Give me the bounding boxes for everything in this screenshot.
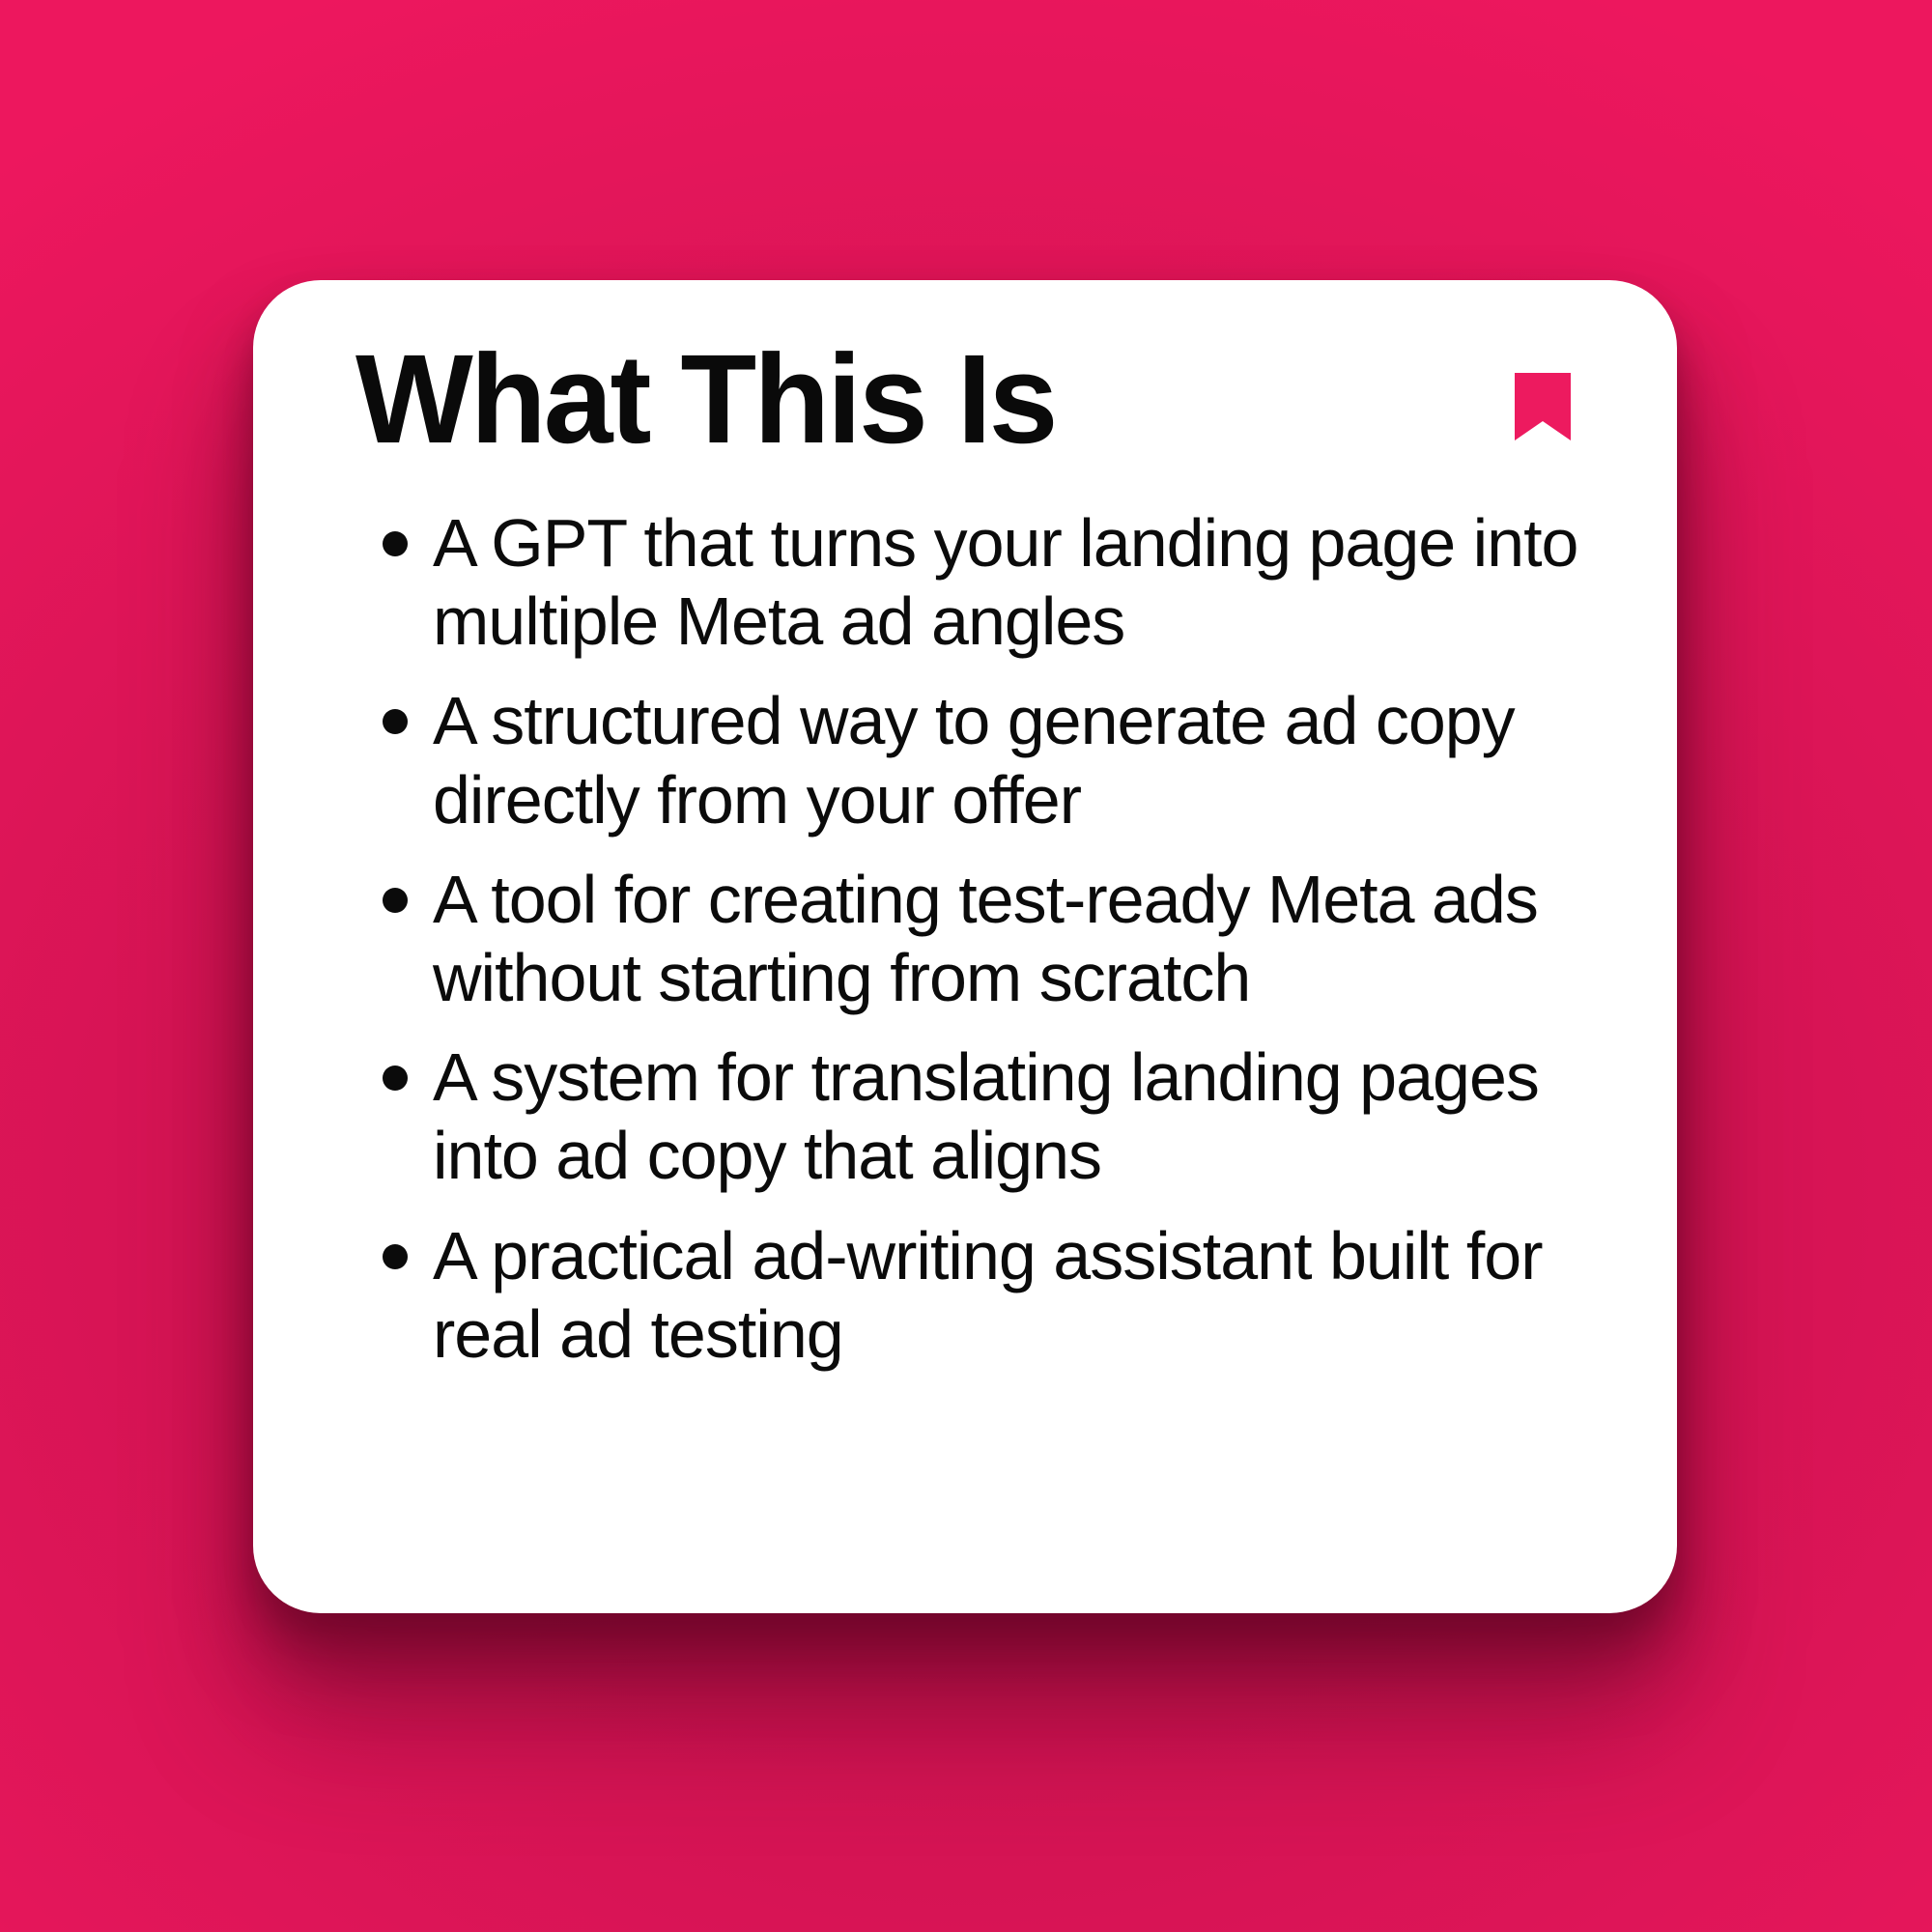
bullet-dot-icon xyxy=(383,709,408,734)
list-item: A tool for creating test-ready Meta ads … xyxy=(375,861,1584,1017)
bullet-dot-icon xyxy=(383,1065,408,1091)
feature-bullet-list: A GPT that turns your landing page into … xyxy=(375,504,1584,1374)
list-item-label: A practical ad-writing assistant built f… xyxy=(433,1217,1584,1374)
slide-canvas: What This Is A GPT that turns your landi… xyxy=(0,0,1932,1932)
bullet-dot-icon xyxy=(383,1244,408,1269)
list-item: A structured way to generate ad copy dir… xyxy=(375,682,1584,838)
list-item-label: A GPT that turns your landing page into … xyxy=(433,504,1584,661)
list-item: A GPT that turns your landing page into … xyxy=(375,504,1584,661)
list-item-label: A tool for creating test-ready Meta ads … xyxy=(433,861,1584,1017)
page-title: What This Is xyxy=(355,325,1055,474)
bookmark-icon[interactable] xyxy=(1515,373,1571,440)
list-item-label: A structured way to generate ad copy dir… xyxy=(433,682,1584,838)
bullet-dot-icon xyxy=(383,531,408,556)
list-item: A practical ad-writing assistant built f… xyxy=(375,1217,1584,1374)
content-card: What This Is A GPT that turns your landi… xyxy=(253,280,1677,1613)
list-item-label: A system for translating landing pages i… xyxy=(433,1038,1584,1195)
bullet-dot-icon xyxy=(383,888,408,913)
list-item: A system for translating landing pages i… xyxy=(375,1038,1584,1195)
